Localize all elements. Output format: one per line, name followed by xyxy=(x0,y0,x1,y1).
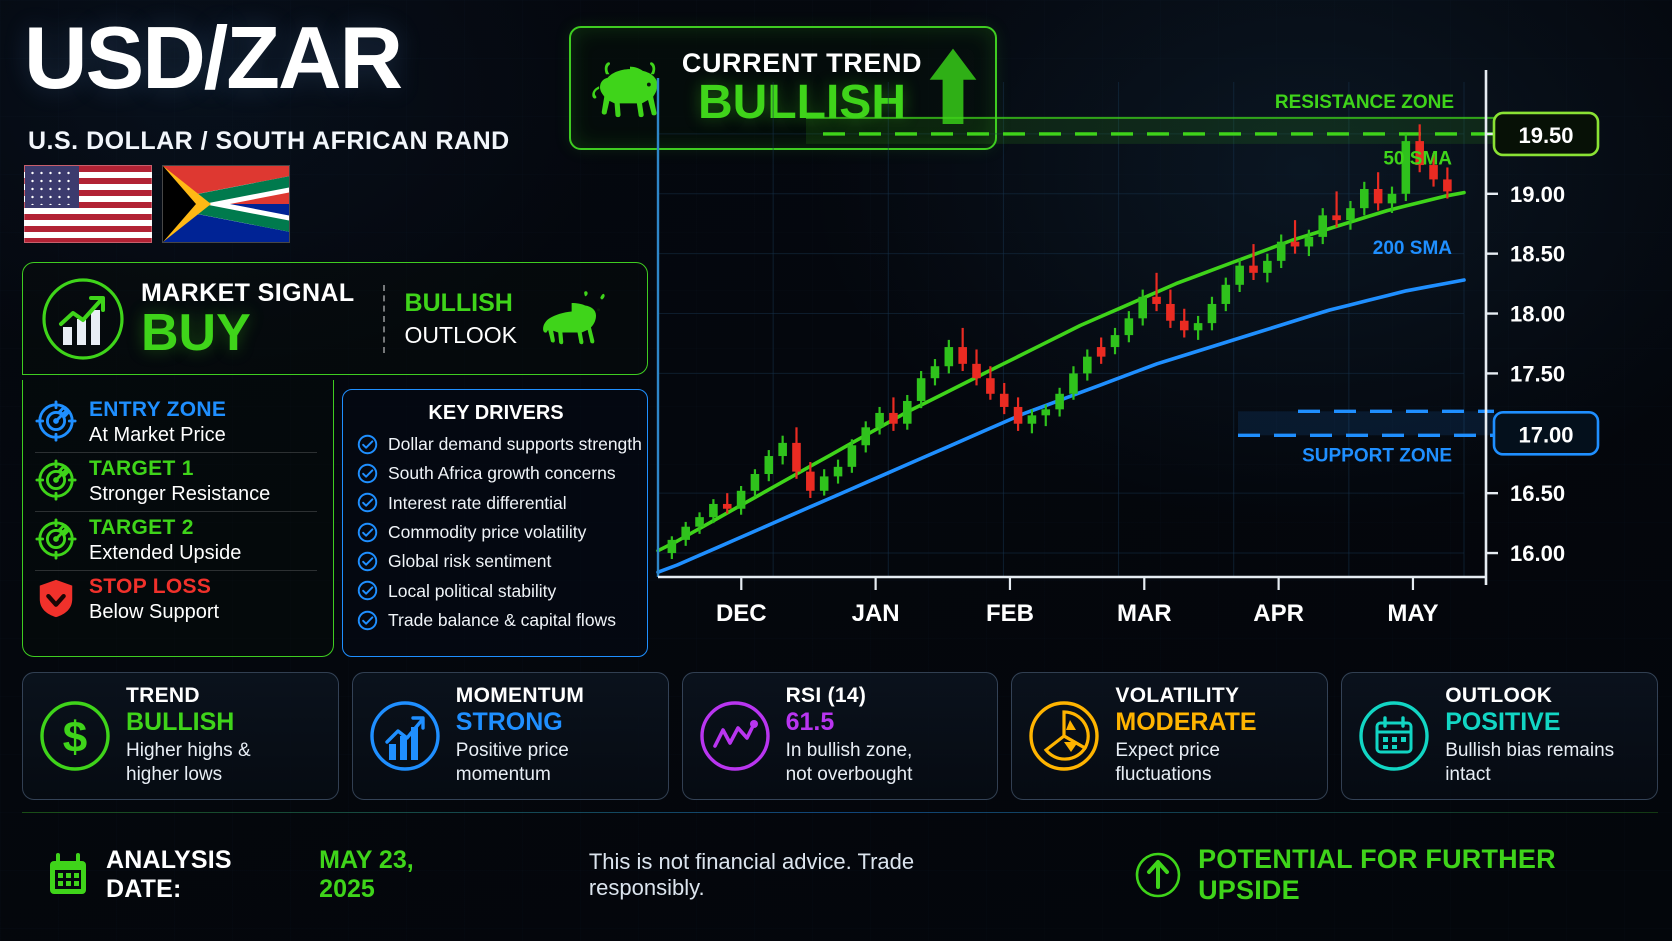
driver-text: Interest rate differential xyxy=(388,489,567,517)
card-title: TREND xyxy=(126,684,251,708)
driver-text: Dollar demand supports strength xyxy=(388,430,642,458)
check-circle-icon xyxy=(357,434,378,455)
dollar-circle-icon: $ xyxy=(37,698,113,774)
svg-text:RESISTANCE ZONE: RESISTANCE ZONE xyxy=(1275,92,1454,113)
pie-chart-icon xyxy=(1026,698,1102,774)
shield-icon xyxy=(35,577,77,619)
svg-text:DEC: DEC xyxy=(716,600,767,627)
target-icon xyxy=(35,518,77,560)
level-title: TARGET 1 xyxy=(89,457,270,481)
footer: ANALYSIS DATE: MAY 23, 2025 This is not … xyxy=(22,820,1658,930)
svg-text:17.50: 17.50 xyxy=(1510,361,1565,386)
key-drivers-title: KEY DRIVERS xyxy=(357,402,635,425)
card-value: STRONG xyxy=(456,708,584,737)
svg-text:16.00: 16.00 xyxy=(1510,541,1565,566)
svg-text:19.00: 19.00 xyxy=(1510,182,1565,207)
price-chart: RESISTANCE ZONESUPPORT ZONE19.5019.0018.… xyxy=(652,62,1664,662)
card-value: MODERATE xyxy=(1115,708,1256,737)
stat-card-rsi: RSI (14) 61.5 In bullish zone, not overb… xyxy=(682,672,999,800)
page-title: USD/ZAR xyxy=(24,14,401,102)
level-stop-loss: STOP LOSS Below Support xyxy=(35,570,317,629)
card-title: MOMENTUM xyxy=(456,684,584,708)
signal-divider xyxy=(383,285,385,353)
svg-text:SUPPORT ZONE: SUPPORT ZONE xyxy=(1302,445,1452,466)
driver-item: Commodity price volatility xyxy=(357,518,635,546)
page-subtitle: U.S. DOLLAR / SOUTH AFRICAN RAND xyxy=(28,127,510,156)
target-icon xyxy=(35,400,77,442)
check-circle-icon xyxy=(357,551,378,572)
level-title: STOP LOSS xyxy=(89,575,219,599)
bar-chart-up-icon xyxy=(41,277,125,361)
za-flag-icon xyxy=(162,165,290,243)
level-title: TARGET 2 xyxy=(89,516,241,540)
card-value: BULLISH xyxy=(126,708,251,737)
check-circle-icon xyxy=(357,580,378,601)
levels-box: ENTRY ZONE At Market Price TARGET 1 Stro… xyxy=(22,380,334,657)
svg-text:APR: APR xyxy=(1253,600,1304,627)
bar-chart-circle-icon xyxy=(367,698,443,774)
key-drivers-box: KEY DRIVERS Dollar demand supports stren… xyxy=(342,389,648,657)
card-desc: In bullish zone, not overbought xyxy=(786,739,913,788)
signal-value: BUY xyxy=(141,308,355,359)
driver-item: Dollar demand supports strength xyxy=(357,430,635,458)
level-sub: Extended Upside xyxy=(89,542,241,565)
target-icon xyxy=(35,459,77,501)
stat-card-outlook: OUTLOOK POSITIVE Bullish bias remains in… xyxy=(1341,672,1658,800)
svg-text:17.00: 17.00 xyxy=(1518,422,1573,447)
svg-text:FEB: FEB xyxy=(986,600,1034,627)
driver-text: South Africa growth concerns xyxy=(388,459,616,487)
level-sub: Stronger Resistance xyxy=(89,483,270,506)
svg-text:$: $ xyxy=(63,713,87,762)
level-entry-zone: ENTRY ZONE At Market Price xyxy=(35,394,317,452)
card-title: RSI (14) xyxy=(786,684,913,708)
svg-text:18.50: 18.50 xyxy=(1510,242,1565,267)
svg-text:50 SMA: 50 SMA xyxy=(1383,149,1452,170)
analysis-date-label: ANALYSIS DATE: xyxy=(106,846,311,904)
driver-item: Trade balance & capital flows xyxy=(357,606,635,634)
up-arrow-circle-icon xyxy=(1134,851,1182,899)
rsi-wave-icon xyxy=(697,698,773,774)
stat-cards: $ TREND BULLISH Higher highs & higher lo… xyxy=(22,672,1658,800)
svg-text:16.50: 16.50 xyxy=(1510,481,1565,506)
card-title: OUTLOOK xyxy=(1445,684,1614,708)
disclaimer-text: This is not financial advice. Trade resp… xyxy=(589,849,1029,901)
card-desc: Bullish bias remains intact xyxy=(1445,739,1614,788)
driver-item: South Africa growth concerns xyxy=(357,459,635,487)
driver-text: Local political stability xyxy=(388,577,556,605)
footer-divider xyxy=(22,812,1658,813)
stat-card-volatility: VOLATILITY MODERATE Expect price fluctua… xyxy=(1011,672,1328,800)
level-sub: Below Support xyxy=(89,601,219,624)
card-title: VOLATILITY xyxy=(1115,684,1256,708)
level-title: ENTRY ZONE xyxy=(89,398,226,422)
driver-item: Global risk sentiment xyxy=(357,547,635,575)
level-target-1: TARGET 1 Stronger Resistance xyxy=(35,452,317,511)
card-value: 61.5 xyxy=(786,708,913,737)
market-signal-box: MARKET SIGNAL BUY BULLISH OUTLOOK xyxy=(22,262,648,375)
check-circle-icon xyxy=(357,463,378,484)
card-desc: Positive price momentum xyxy=(456,739,584,788)
stat-card-momentum: MOMENTUM STRONG Positive price momentum xyxy=(352,672,669,800)
infographic-root: USD/ZAR U.S. DOLLAR / SOUTH AFRICAN RAND… xyxy=(0,0,1672,941)
driver-text: Trade balance & capital flows xyxy=(388,606,616,634)
driver-text: Global risk sentiment xyxy=(388,547,551,575)
card-value: POSITIVE xyxy=(1445,708,1614,737)
svg-text:MAR: MAR xyxy=(1117,600,1172,627)
driver-text: Commodity price volatility xyxy=(388,518,586,546)
us-flag-icon xyxy=(24,165,152,243)
calendar-icon xyxy=(44,851,92,899)
svg-text:19.50: 19.50 xyxy=(1518,123,1573,148)
svg-text:JAN: JAN xyxy=(852,600,900,627)
check-circle-icon xyxy=(357,492,378,513)
signal-outlook-label: OUTLOOK xyxy=(405,322,517,349)
driver-item: Local political stability xyxy=(357,577,635,605)
analysis-date-value: MAY 23, 2025 xyxy=(319,846,474,904)
upside-text: POTENTIAL FOR FURTHER UPSIDE xyxy=(1198,844,1658,906)
svg-text:200 SMA: 200 SMA xyxy=(1373,238,1452,259)
level-target-2: TARGET 2 Extended Upside xyxy=(35,511,317,570)
svg-text:18.00: 18.00 xyxy=(1510,302,1565,327)
bull-icon xyxy=(533,291,617,347)
calendar-icon xyxy=(1356,698,1432,774)
svg-text:MAY: MAY xyxy=(1387,600,1438,627)
level-sub: At Market Price xyxy=(89,424,226,447)
card-desc: Expect price fluctuations xyxy=(1115,739,1256,788)
check-circle-icon xyxy=(357,610,378,631)
check-circle-icon xyxy=(357,522,378,543)
driver-item: Interest rate differential xyxy=(357,489,635,517)
signal-outlook-value: BULLISH xyxy=(405,289,517,318)
stat-card-trend: $ TREND BULLISH Higher highs & higher lo… xyxy=(22,672,339,800)
card-desc: Higher highs & higher lows xyxy=(126,739,251,788)
